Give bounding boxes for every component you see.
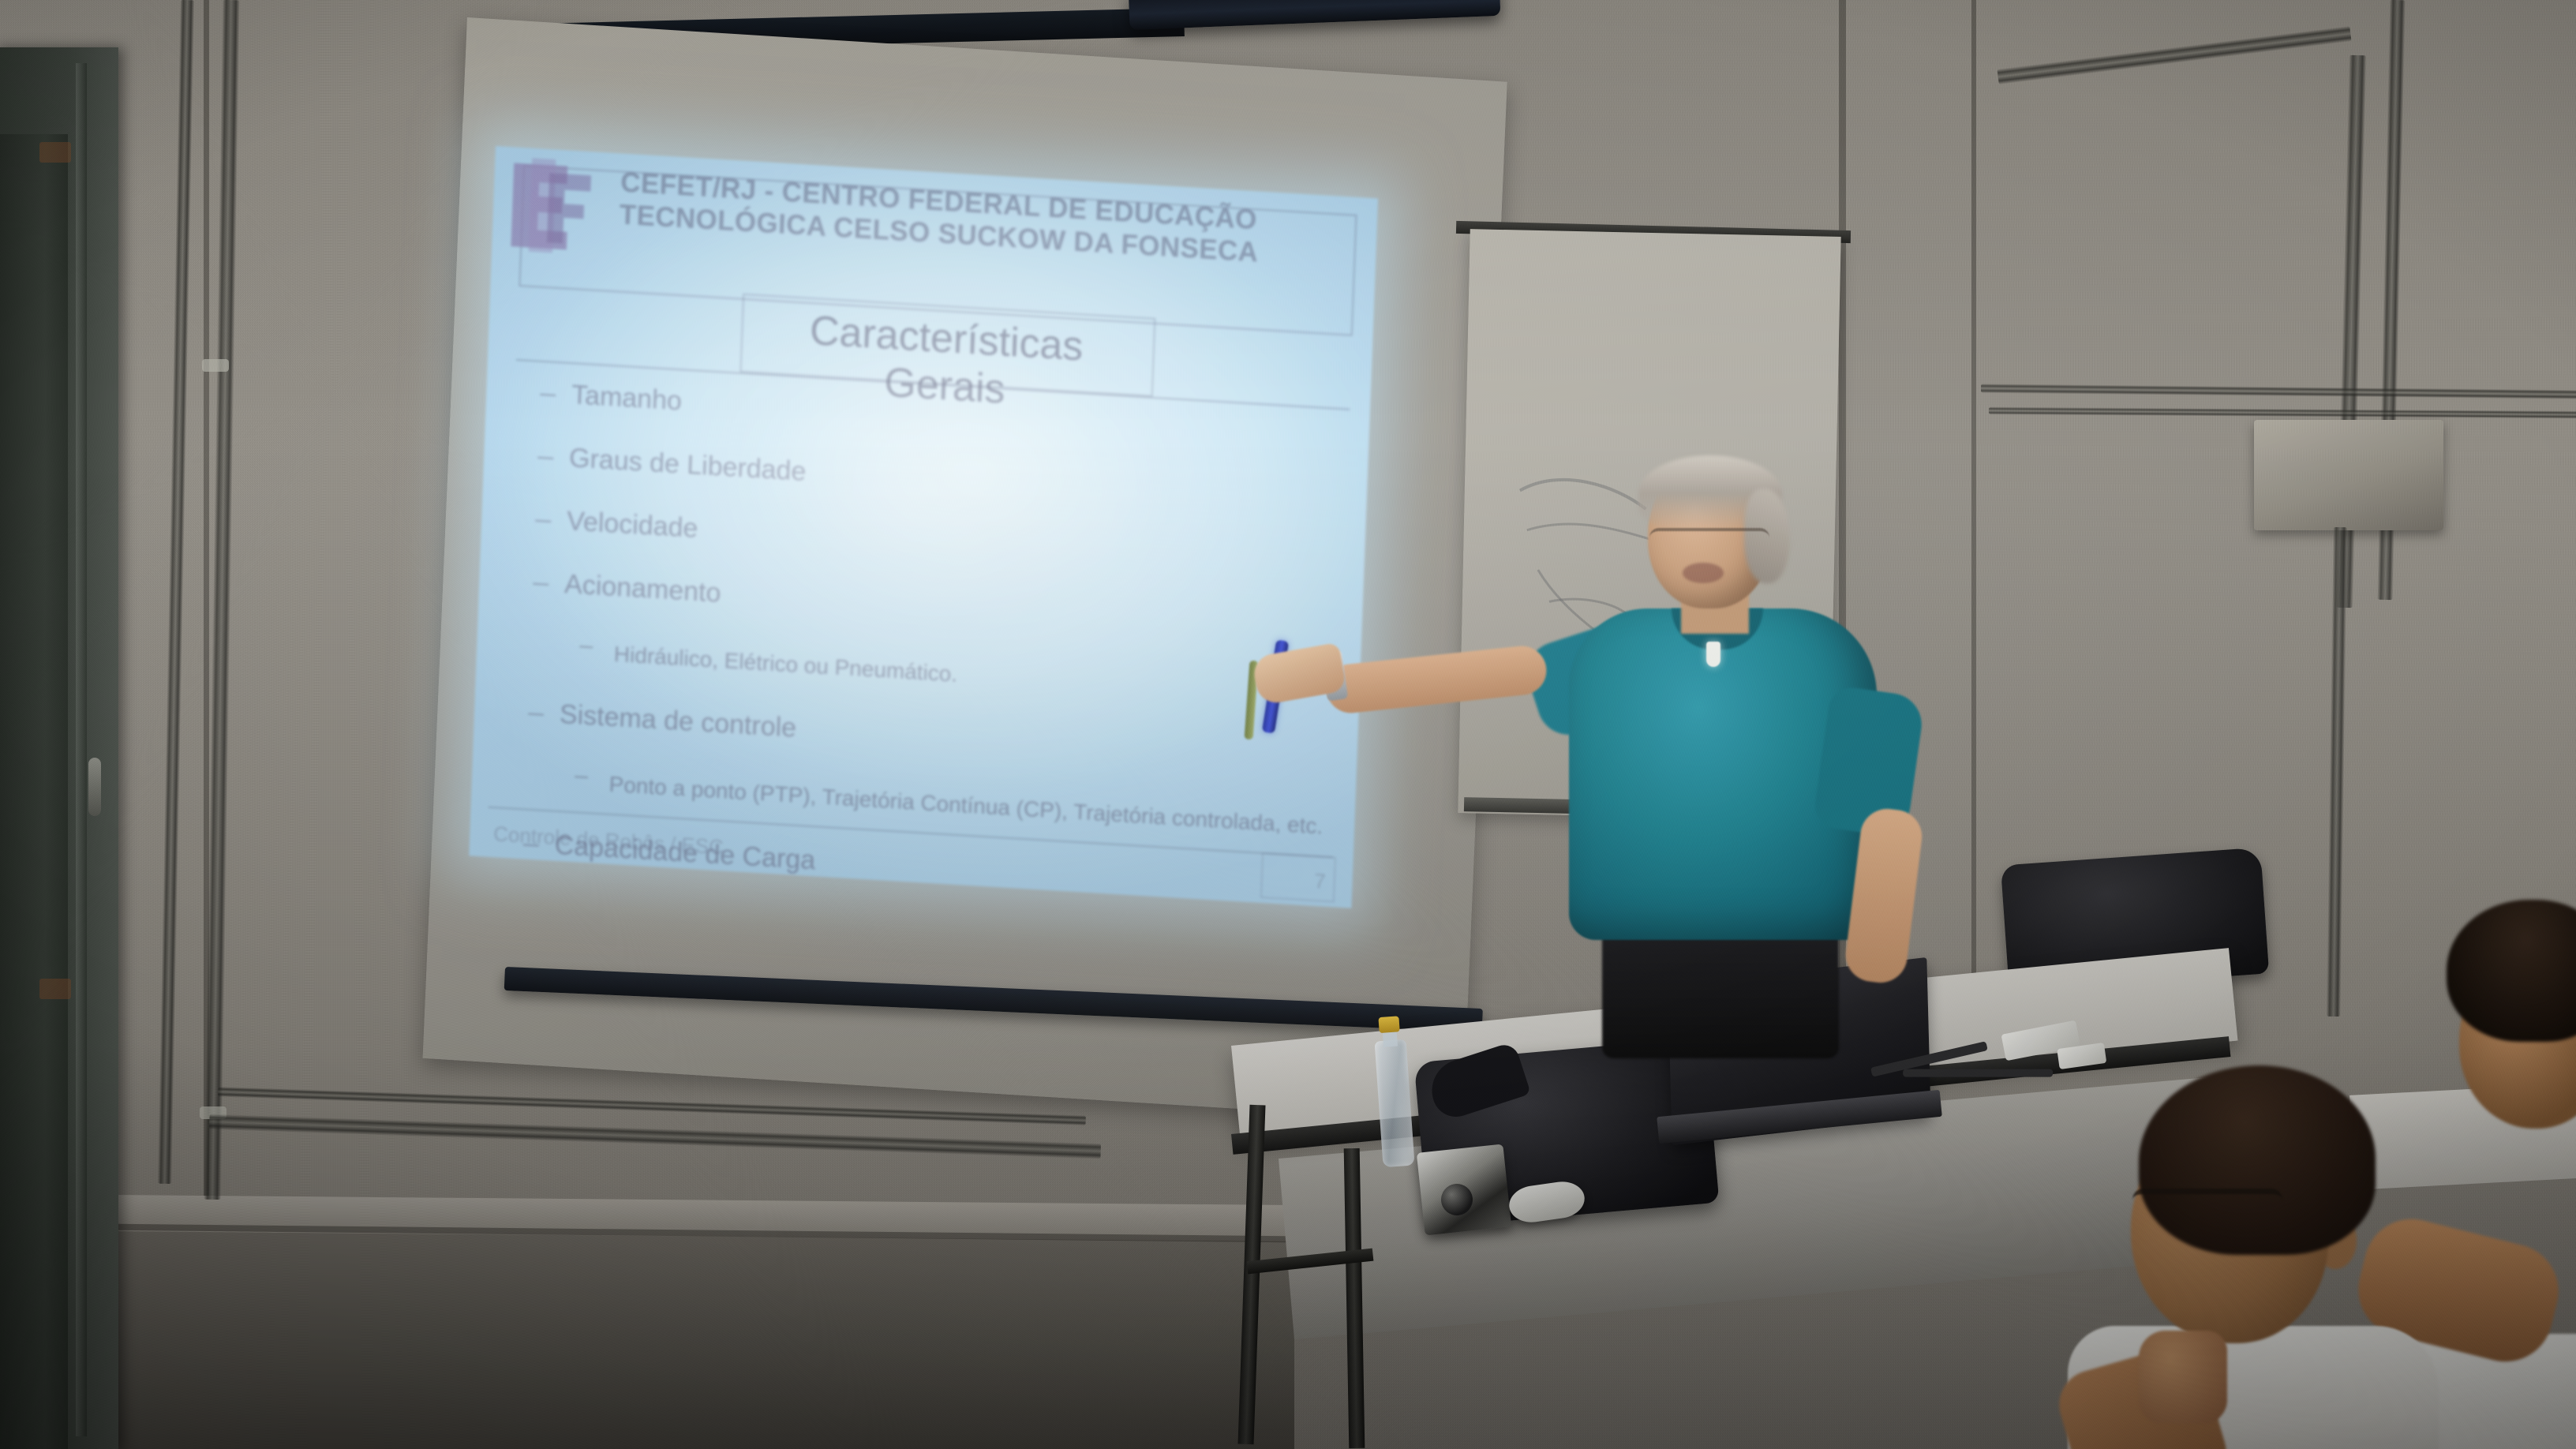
photo-vignette — [0, 0, 2576, 1449]
classroom-photo-scene: CEFET/RJ - CENTRO FEDERAL DE EDUCAÇÃO TE… — [0, 0, 2576, 1449]
